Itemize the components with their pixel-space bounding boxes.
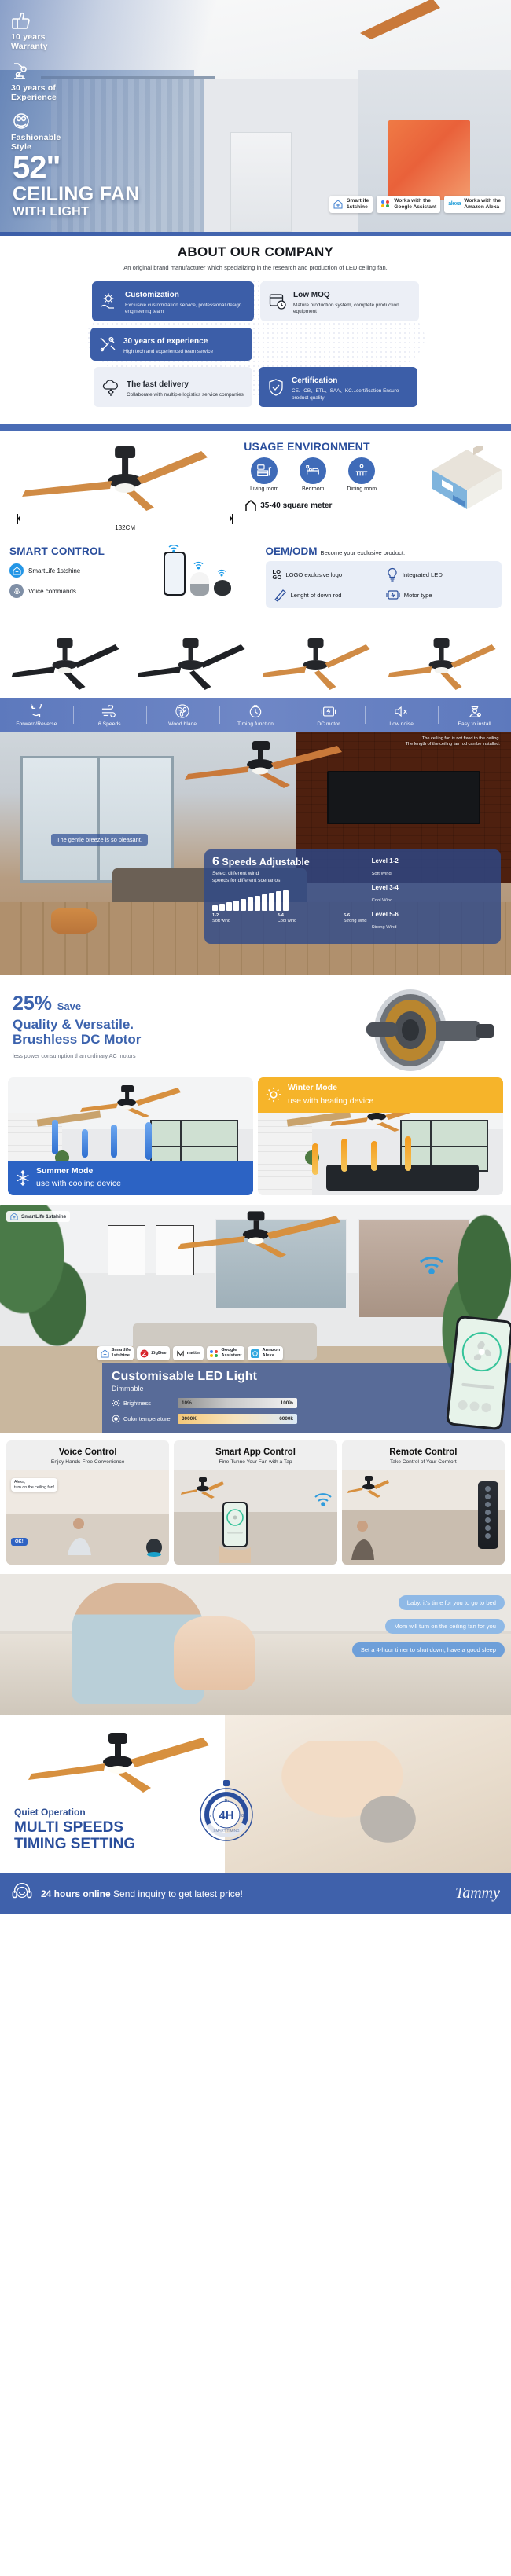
wifi-icon [217, 569, 226, 577]
compat-chip-google: Works with theGoogle Assistant [377, 196, 440, 213]
bar-name: Strong wind [344, 919, 367, 923]
control-card-remote: Remote Control Take Control of Your Comf… [342, 1440, 505, 1565]
voice-reply-badge: OK! [11, 1538, 28, 1546]
timing-headline: MULTI SPEEDSTIMING SETTING [14, 1820, 135, 1852]
headset-icon [11, 1881, 33, 1906]
fan-in-summer-mode [67, 1084, 194, 1117]
isometric-room-illustration [429, 446, 505, 514]
speed-level-item: Level 3-4 Cool Wind [372, 884, 493, 905]
hero-badge: Fashionable Style [11, 112, 105, 152]
person-yoga [61, 1516, 105, 1558]
control-methods-section: Voice Control Enjoy Hands-Free Convenien… [0, 1433, 511, 1574]
speeds-level-list: Level 1-2 Soft Wind Level 3-4 Cool Wind … [372, 856, 493, 938]
feature-icon-bar: Forward/Reverse 6 Speeds Wood blade Timi… [0, 698, 511, 732]
brightness-slider-row[interactable]: Brightness 10% 100% [112, 1398, 502, 1408]
about-card-low-moq: Low MOQ Mature production system, comple… [260, 281, 419, 321]
alexa-icon: alexa [448, 201, 461, 207]
downrod-icon [273, 588, 287, 602]
chat-bubble: Mom will turn on the ceiling fan for you [385, 1619, 505, 1634]
install-icon [438, 703, 511, 719]
smart-control-label: Voice commands [28, 588, 76, 595]
ceiling-fan-timing [20, 1731, 225, 1794]
led-subtitle: Dimmable [112, 1385, 502, 1393]
fan-dimension-block: 132CM [9, 440, 241, 533]
control-subtitle: Fine-Tunne Your Fan with a Tap [180, 1459, 330, 1465]
snowflake-icon [15, 1170, 31, 1186]
hero-compat-chips: Smartlife1stshine Works with theGoogle A… [329, 196, 505, 213]
dc-motor-section: 25% Save Quality & Versatile.Brushless D… [0, 975, 511, 1077]
bar-range: 1-2 [212, 913, 219, 918]
voice-bubble: Alexa,turn on the ceiling fan! [11, 1478, 57, 1492]
compat-chip-text: Smartlife1stshine [347, 198, 369, 211]
sun-icon [265, 1086, 282, 1103]
feature-timing: Timing function [219, 703, 292, 727]
speed-level-desc: Cool Wind [372, 898, 393, 903]
usage-room-label: Bedroom [292, 486, 333, 492]
bulb-icon [386, 567, 399, 582]
color-temp-icon [112, 1415, 120, 1423]
microphone-icon [9, 584, 24, 598]
hero-main-title: CEILING FAN [13, 184, 140, 204]
scene-note: The ceiling fan is not fixed to the ceil… [406, 736, 500, 747]
dc-motor-icon [292, 703, 365, 719]
brand-logo: Tammy [455, 1884, 500, 1903]
svg-text:4h: 4h [206, 1814, 211, 1818]
eco-chip-alexa: AmazonAlexa [248, 1346, 283, 1360]
speeds-bar-chart [212, 890, 367, 911]
oem-title: OEM/ODM [266, 545, 318, 557]
variant-black-with-light [7, 633, 127, 692]
feature-label: Wood blade [146, 721, 219, 727]
led-smartlife-badge: SmartLife 1stshine [6, 1211, 70, 1222]
alexa-icon [251, 1349, 259, 1358]
hero-badge: 10 years Warranty [11, 11, 105, 51]
eco-chip-google: GoogleAssistant [207, 1346, 244, 1360]
chat-bubble: Set a 4-hour timer to shut down, have a … [352, 1642, 505, 1657]
eco-line1: Google [221, 1348, 237, 1352]
eco-line2: Alexa [262, 1353, 274, 1358]
about-card-title: 30 years of experience [123, 337, 208, 346]
oem-odm-block: OEM/ODM Become your exclusive product. L… [266, 545, 502, 624]
house-outline-icon [244, 498, 258, 512]
gear-hand-icon [99, 291, 119, 311]
smart-control-oem-section: SMART CONTROL SmartLife 1stshine Voice c… [0, 539, 511, 629]
chat-bubble-list: baby, it's time for you to go to bed Mom… [245, 1594, 505, 1665]
timing-section: Quiet Operation MULTI SPEEDSTIMING SETTI… [0, 1715, 511, 1873]
smartlife-icon [101, 1349, 109, 1358]
feature-low-noise: Low noise [365, 703, 438, 727]
eco-line1: Smartlife [112, 1348, 131, 1352]
clock-icon [219, 703, 292, 719]
footer-rest: Send inquiry to get latest price! [111, 1888, 243, 1899]
fashion-icon [11, 112, 31, 130]
oem-item-led: Integrated LED [386, 567, 494, 582]
about-card-row: The fast delivery Collaborate with multi… [11, 367, 500, 407]
about-heading: ABOUT OUR COMPANY [11, 244, 500, 260]
wind-icon [73, 703, 146, 719]
phone-in-hand[interactable] [216, 1500, 254, 1563]
feature-label: 6 Speeds [73, 721, 146, 727]
oem-item-label: Motor type [404, 592, 432, 599]
scene-tip-bubble: The gentle breeze is so pleasant. [51, 834, 148, 846]
oem-item-label: Lenght of down rod [291, 592, 342, 599]
timer-dial: 4H 1h 8h 4h SMART TIMING [197, 1780, 256, 1844]
eco-line2: Assistant [221, 1353, 241, 1358]
footer-bold: 24 hours online [41, 1888, 111, 1899]
mode-line2: use with cooling device [36, 1179, 121, 1188]
speed-level-desc: Strong Wind [372, 925, 397, 930]
tools-icon [97, 334, 118, 354]
compat-chip-text: Works with theAmazon Alexa [464, 198, 501, 211]
color-temp-label: Color temperature [123, 1415, 171, 1422]
feature-6-speeds: 6 Speeds [73, 703, 146, 727]
mode-line1: Summer Mode [36, 1166, 121, 1176]
google-assistant-icon [380, 199, 391, 209]
dog-in-scene [51, 908, 97, 934]
google-assistant-icon [210, 1350, 219, 1357]
eco-line1: Amazon [262, 1348, 280, 1352]
about-card-customization: Customization Exclusive customization se… [92, 281, 254, 321]
smart-control-item: SmartLife 1stshine [9, 563, 157, 578]
feature-label: Timing function [219, 721, 292, 727]
svg-text:1h: 1h [224, 1799, 229, 1804]
product-listing-page: 10 years Warranty 30 years of Experience… [0, 0, 511, 1914]
about-card-delivery: The fast delivery Collaborate with multi… [94, 367, 252, 407]
about-card-title: The fast delivery [127, 380, 189, 389]
eco-chip-zigbee: ZigBee [137, 1346, 169, 1360]
control-subtitle: Enjoy Hands-Free Convenience [13, 1459, 163, 1465]
bar-range: 5-6 [344, 913, 350, 918]
smartlife-icon [333, 199, 344, 209]
eco-line2: 1stshine [112, 1353, 131, 1358]
dining-room-icon [348, 457, 375, 484]
wifi-icon [193, 561, 204, 570]
usage-info-block: USAGE ENVIRONMENT Living room [241, 440, 502, 512]
compat-chip-alexa: alexa Works with theAmazon Alexa [444, 196, 505, 213]
about-card-row: Customization Exclusive customization se… [11, 281, 500, 321]
oem-item-label: LOGO exclusive logo [285, 571, 342, 578]
about-card-desc: High tech and experienced team service [123, 349, 213, 355]
color-temp-slider-row[interactable]: Color temperature 3000K 6000k [112, 1414, 502, 1424]
feature-label: DC motor [292, 721, 365, 727]
phone-app-mockup[interactable] [446, 1316, 511, 1431]
hero-badge-line1: Fashionable [11, 133, 105, 142]
about-card-desc: Collaborate with multiple logistics serv… [127, 392, 244, 398]
about-card-desc: Mature production system, complete produ… [293, 303, 412, 316]
ceiling-fan-led [164, 1209, 358, 1260]
about-card-desc: Exclusive customization service, profess… [125, 303, 247, 316]
mode-line1: Winter Mode [288, 1083, 373, 1092]
feature-label: Forward/Reverse [0, 721, 73, 727]
about-card-row: 30 years of experience High tech and exp… [11, 328, 500, 361]
hero-badge-line1: 30 years of [11, 83, 105, 93]
usage-room-label: Dining room [341, 486, 382, 492]
motor-percent: 25% [13, 993, 52, 1015]
fan-product-image [9, 443, 241, 511]
remote-control-device[interactable] [478, 1481, 498, 1549]
color-temp-min: 3000K [182, 1416, 197, 1422]
smart-control-label: SmartLife 1stshine [28, 567, 80, 574]
mode-tag-text: Winter Mode use with heating device [288, 1083, 373, 1106]
fan-small [345, 1475, 391, 1499]
bedroom-icon [300, 457, 326, 484]
speed-level-item: Level 5-6 Strong Wind [372, 911, 493, 932]
window-prop [20, 756, 174, 883]
feature-label: Low noise [365, 721, 438, 727]
brightness-max: 100% [281, 1400, 293, 1406]
speed-level-name: Level 5-6 [372, 911, 493, 918]
smart-devices-illustration [157, 545, 266, 624]
speeds-bar-labels: 1-2Soft wind 3-4Cool wind 5-6Strong wind [212, 913, 367, 924]
usage-environment-section: 132CM USAGE ENVIRONMENT Living room [0, 431, 511, 539]
mute-icon [365, 703, 438, 719]
hero-section: 10 years Warranty 30 years of Experience… [0, 0, 511, 232]
timing-text-block: Quiet Operation MULTI SPEEDSTIMING SETTI… [14, 1807, 135, 1852]
fan-variants-row [0, 629, 511, 698]
eco-chip-matter: matter [173, 1346, 204, 1360]
motor-save-word: Save [57, 1000, 81, 1012]
fan-dimension-line: 132CM [9, 514, 241, 533]
smartlife-app-icon [9, 563, 24, 578]
plant-left [0, 1205, 102, 1369]
motor-icon [386, 588, 400, 602]
ceiling-fan-in-scene [174, 739, 358, 788]
control-subtitle: Take Control of Your Comfort [348, 1459, 498, 1465]
color-temp-slider[interactable]: 3000K 6000k [178, 1414, 297, 1424]
feature-dc-motor: DC motor [292, 703, 365, 727]
hero-title-block: 52" CEILING FAN WITH LIGHT [13, 153, 140, 219]
color-temp-label-group: Color temperature [112, 1415, 173, 1423]
compat-chip-text: Works with theGoogle Assistant [394, 198, 436, 211]
smart-control-heading: SMART CONTROL [9, 545, 157, 557]
about-subheading: An original brand manufacturer which spe… [11, 264, 500, 271]
hero-sub-title: WITH LIGHT [13, 205, 140, 219]
brightness-slider[interactable]: 10% 100% [178, 1398, 297, 1408]
smart-control-item: Voice commands [9, 584, 157, 598]
hero-badge-line2: Warranty [11, 42, 105, 51]
usage-area-label: 35-40 square meter [260, 501, 332, 510]
hero-badge-list: 10 years Warranty 30 years of Experience… [11, 11, 105, 161]
usage-room-label: Living room [244, 486, 285, 492]
cloud-rocket-icon [101, 377, 121, 398]
about-card-title: Low MOQ [293, 291, 330, 299]
svg-text:8h: 8h [241, 1814, 246, 1818]
brightness-icon [112, 1399, 120, 1407]
mode-tag-text: Summer Mode use with cooling device [36, 1166, 121, 1190]
hero-size: 52" [13, 153, 140, 183]
footer-bar: 24 hours online Send inquiry to get late… [0, 1873, 511, 1914]
feature-easy-install: Easy to install [438, 703, 511, 727]
chat-bubble: baby, it's time for you to go to bed [399, 1595, 505, 1610]
oem-item-downrod: Lenght of down rod [273, 588, 381, 602]
variant-wood-with-light [384, 633, 504, 692]
control-photo-remote [342, 1470, 505, 1565]
control-card-voice: Voice Control Enjoy Hands-Free Convenien… [6, 1440, 169, 1565]
variant-wood-no-light [258, 633, 378, 692]
speed-level-name: Level 1-2 [372, 857, 493, 864]
seasonal-modes-section: Summer Mode use with cooling device [0, 1077, 511, 1205]
hero-badge-line1: 10 years [11, 32, 105, 42]
oem-item-logo: LOGO LOGO exclusive logo [273, 567, 381, 582]
feature-label: Easy to install [438, 721, 511, 727]
about-card-title: Customization [125, 291, 179, 299]
box-clock-icon [267, 291, 288, 311]
bar-name: Soft wind [212, 919, 230, 923]
wifi-icon [314, 1491, 333, 1506]
motor-product-image [338, 982, 503, 1076]
speeds-title: Speeds Adjustable [222, 857, 309, 868]
led-ecosystem-row: Smartlife1stshine ZigBee matter GoogleAs… [97, 1346, 450, 1360]
about-card-experience: 30 years of experience High tech and exp… [90, 328, 252, 361]
brightness-min: 10% [182, 1400, 192, 1406]
person-hand [348, 1519, 386, 1561]
feature-forward-reverse: Forward/Reverse [0, 703, 73, 727]
about-card-title: Certification [292, 376, 337, 385]
speed-level-desc: Soft Wind [372, 872, 392, 876]
section-divider-band [0, 424, 511, 431]
logo-icon: LOGO [273, 569, 282, 580]
brightness-label-group: Brightness [112, 1399, 173, 1407]
control-card-app: Smart App Control Fine-Tunne Your Fan wi… [174, 1440, 336, 1565]
hero-badge: 30 years of Experience [11, 61, 105, 102]
control-title: Voice Control [13, 1448, 163, 1457]
speeds-panel: 6 Speeds Adjustable Select different win… [204, 849, 501, 944]
hero-badge-line2: Experience [11, 93, 105, 102]
blade-icon [146, 703, 219, 719]
fan-small [178, 1477, 226, 1499]
sleeping-baby-photo [225, 1715, 511, 1873]
oem-item-label: Integrated LED [403, 571, 443, 578]
baby-in-scene [174, 1616, 256, 1690]
zigbee-icon [140, 1349, 149, 1358]
wifi-icon [168, 544, 179, 553]
oem-feature-grid: LOGO LOGO exclusive logo Integrated LED … [266, 561, 502, 608]
fan-dimension-label: 132CM [9, 524, 241, 531]
footer-text: 24 hours online Send inquiry to get late… [41, 1888, 243, 1899]
google-home-device [190, 572, 209, 596]
speed-level-item: Level 1-2 Soft Wind [372, 857, 493, 879]
eco-chip-smartlife: Smartlife1stshine [97, 1346, 134, 1360]
control-title: Remote Control [348, 1448, 498, 1457]
phone-device [164, 552, 186, 596]
lifestyle-scene-section: The ceiling fan is not fixed to the ceil… [0, 732, 511, 975]
thumbs-up-icon [11, 11, 31, 30]
control-photo-voice: Alexa,turn on the ceiling fan! OK! [6, 1470, 169, 1565]
echo-device [145, 1536, 163, 1557]
winter-mode-card: Winter Mode use with heating device [258, 1077, 503, 1195]
winter-mode-tag: Winter Mode use with heating device [258, 1077, 503, 1112]
oem-item-motor: Motor type [386, 588, 494, 602]
speeds-subtitle: Select different windspeeds for differen… [212, 871, 367, 884]
compat-chip-smartlife: Smartlife1stshine [329, 196, 373, 213]
robot-arm-icon [11, 61, 31, 81]
speeds-count: 6 [212, 855, 219, 868]
led-badge-label: SmartLife 1stshine [21, 1214, 66, 1220]
shield-check-icon [266, 377, 286, 398]
speed-level-name: Level 3-4 [372, 884, 493, 891]
usage-room-dining: Dining room [341, 457, 382, 492]
bar-range: 3-4 [278, 913, 284, 918]
control-photo-app [174, 1470, 336, 1565]
mode-line2: use with heating device [288, 1096, 373, 1106]
about-card-certification: Certification CE、CB、ETL、SAA、KC...certifi… [259, 367, 417, 407]
living-room-icon [251, 457, 278, 484]
feature-wood-blade: Wood blade [146, 703, 219, 727]
led-light-section: SmartLife 1stshine Smartlife1stshine Zig… [0, 1205, 511, 1433]
control-title: Smart App Control [180, 1448, 330, 1457]
chat-scene-section: baby, it's time for you to go to bed Mom… [0, 1574, 511, 1715]
led-title: Customisable LED Light [112, 1371, 502, 1383]
smartlife-icon [10, 1213, 18, 1220]
timer-value: 4H [219, 1809, 233, 1822]
summer-mode-tag: Summer Mode use with cooling device [8, 1161, 253, 1195]
brightness-label: Brightness [123, 1400, 151, 1407]
variant-black-no-light [133, 633, 253, 692]
timing-quiet-label: Quiet Operation [14, 1807, 135, 1818]
echo-dot-device [214, 580, 231, 596]
eco-line1: ZigBee [151, 1351, 166, 1356]
summer-mode-card: Summer Mode use with cooling device [8, 1077, 253, 1195]
smart-control-block: SMART CONTROL SmartLife 1stshine Voice c… [9, 545, 157, 624]
reverse-icon [0, 703, 73, 719]
bar-name: Cool wind [278, 919, 297, 923]
oem-tagline: Become your exclusive product. [321, 549, 406, 556]
about-section: ABOUT OUR COMPANY An original brand manu… [0, 232, 511, 424]
svg-text:SMART TIMING: SMART TIMING [213, 1829, 240, 1833]
usage-room-living: Living room [244, 457, 285, 492]
about-card-desc: CE、CB、ETL、SAA、KC...certification Ensure … [292, 388, 410, 402]
wifi-icon [418, 1253, 445, 1274]
matter-icon [176, 1349, 185, 1358]
color-temp-max: 6000k [279, 1416, 293, 1422]
eco-line1: matter [187, 1351, 201, 1356]
usage-room-bedroom: Bedroom [292, 457, 333, 492]
